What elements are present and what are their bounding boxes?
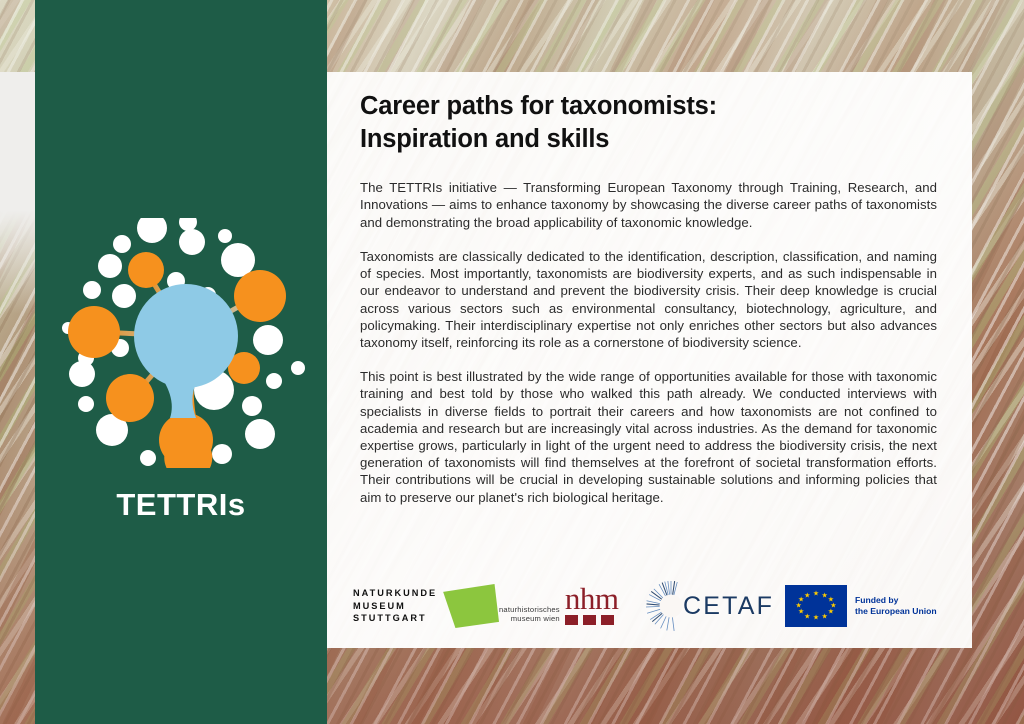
- smns-green-shape-icon: [443, 584, 499, 628]
- nhm-line-1: naturhistorisches: [499, 605, 560, 615]
- smns-line-3: STUTTGART: [353, 612, 437, 625]
- page-title: Career paths for taxonomists: Inspiratio…: [360, 90, 937, 156]
- network-node-logo-icon: [62, 218, 310, 468]
- body-paragraph-2: Taxonomists are classically dedicated to…: [360, 248, 937, 351]
- eu-caption: Funded by the European Union: [855, 595, 937, 618]
- nhm-squares-icon: [565, 615, 627, 625]
- cetaf-wordmark: CETAF: [683, 592, 774, 621]
- eu-caption-line-2: the European Union: [855, 606, 937, 618]
- nhm-wordmark: naturhistorisches museum wien: [499, 605, 560, 624]
- page-title-line-2: Inspiration and skills: [360, 123, 937, 156]
- body-paragraph-1: The TETTRIs initiative — Transforming Eu…: [360, 179, 937, 231]
- poster-page: TETTRIs Career paths for taxonomists: In…: [0, 0, 1024, 724]
- smns-line-1: NATURKUNDE: [353, 587, 437, 600]
- nhm-line-2: museum wien: [499, 614, 560, 624]
- nhm-letters: nhm: [565, 586, 627, 612]
- page-title-line-1: Career paths for taxonomists:: [360, 92, 717, 120]
- nhm-square-1: [565, 615, 578, 625]
- logo-cetaf: CETAF: [645, 580, 785, 632]
- logo-nhm-wien: naturhistorisches museum wien nhm: [499, 586, 645, 626]
- logo-european-union: ★ ★ ★ ★ ★ ★ ★ ★ ★ ★ ★ ★ Funded by the Eu…: [785, 585, 945, 627]
- logo-naturkundemuseum-stuttgart: NATURKUNDE MUSEUM STUTTGART: [353, 584, 499, 628]
- body-paragraph-3: This point is best illustrated by the wi…: [360, 368, 937, 506]
- smns-line-2: MUSEUM: [353, 600, 437, 613]
- nhm-mark-icon: nhm: [565, 586, 627, 626]
- nhm-square-2: [583, 615, 596, 625]
- brand-wordmark: TETTRIs: [35, 487, 327, 523]
- background-left-white-strip: [0, 72, 36, 648]
- eu-flag-icon: ★ ★ ★ ★ ★ ★ ★ ★ ★ ★ ★ ★: [785, 585, 847, 627]
- eu-caption-line-1: Funded by: [855, 595, 937, 607]
- nhm-square-3: [601, 615, 614, 625]
- smns-wordmark: NATURKUNDE MUSEUM STUTTGART: [353, 587, 437, 625]
- partner-logo-row: NATURKUNDE MUSEUM STUTTGART naturhistori…: [353, 578, 953, 634]
- content-card: Career paths for taxonomists: Inspiratio…: [327, 72, 972, 648]
